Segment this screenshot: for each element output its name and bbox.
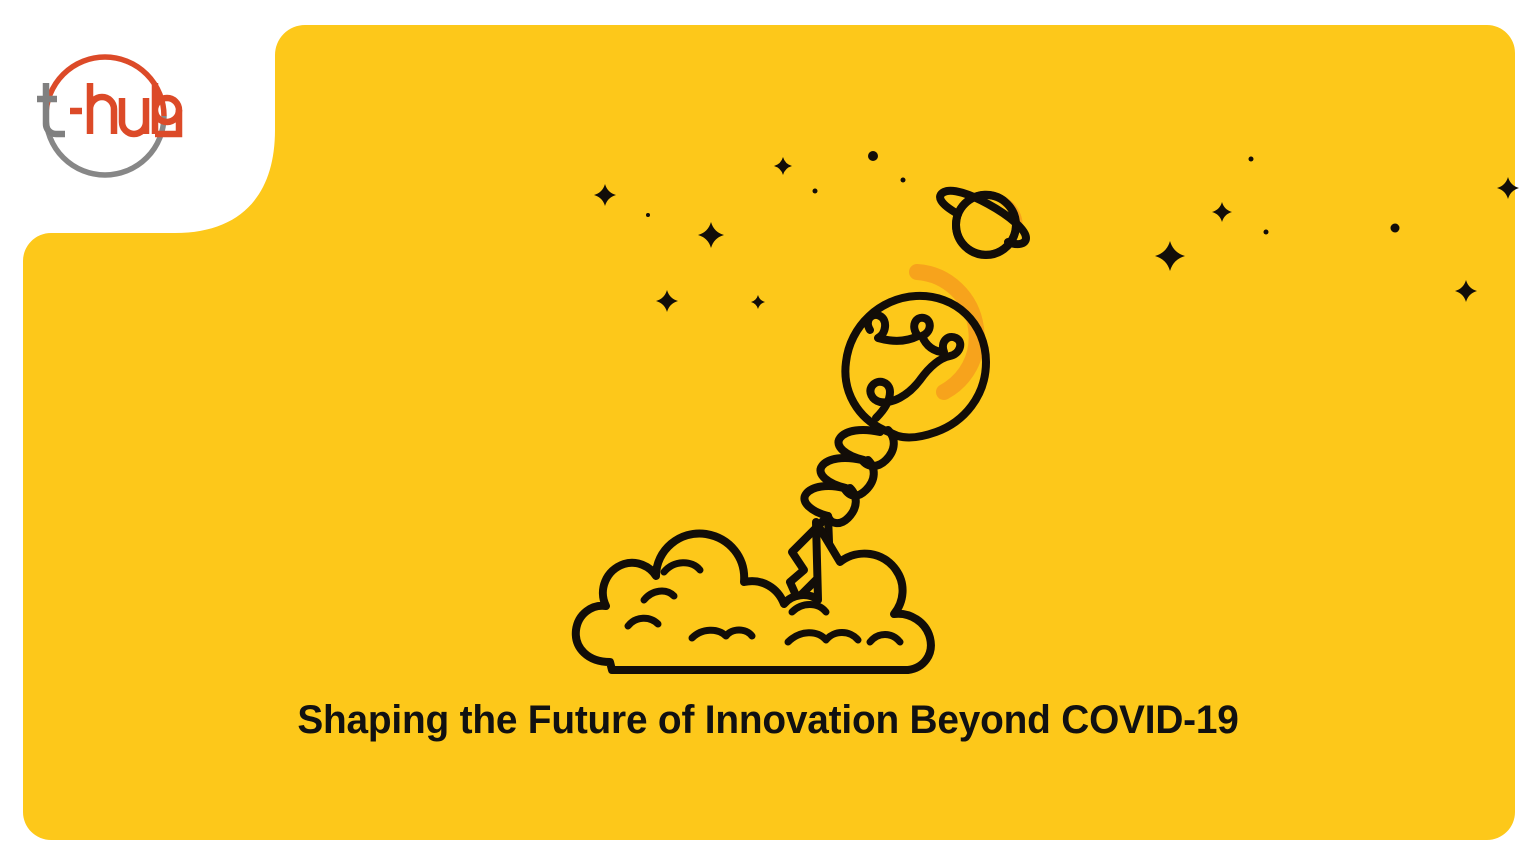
logo-letter-u <box>122 98 146 134</box>
banner-title: Shaping the Future of Innovation Beyond … <box>23 698 1513 743</box>
thub-logo[interactable] <box>24 36 214 186</box>
cloud-puff-icon <box>572 460 990 670</box>
logo-letter-h <box>90 83 114 134</box>
innovation-illustration <box>540 130 1100 675</box>
ringed-planet-icon <box>940 191 1026 255</box>
banner-canvas: Shaping the Future of Innovation Beyond … <box>0 0 1536 864</box>
logo-letter-t <box>46 83 65 134</box>
